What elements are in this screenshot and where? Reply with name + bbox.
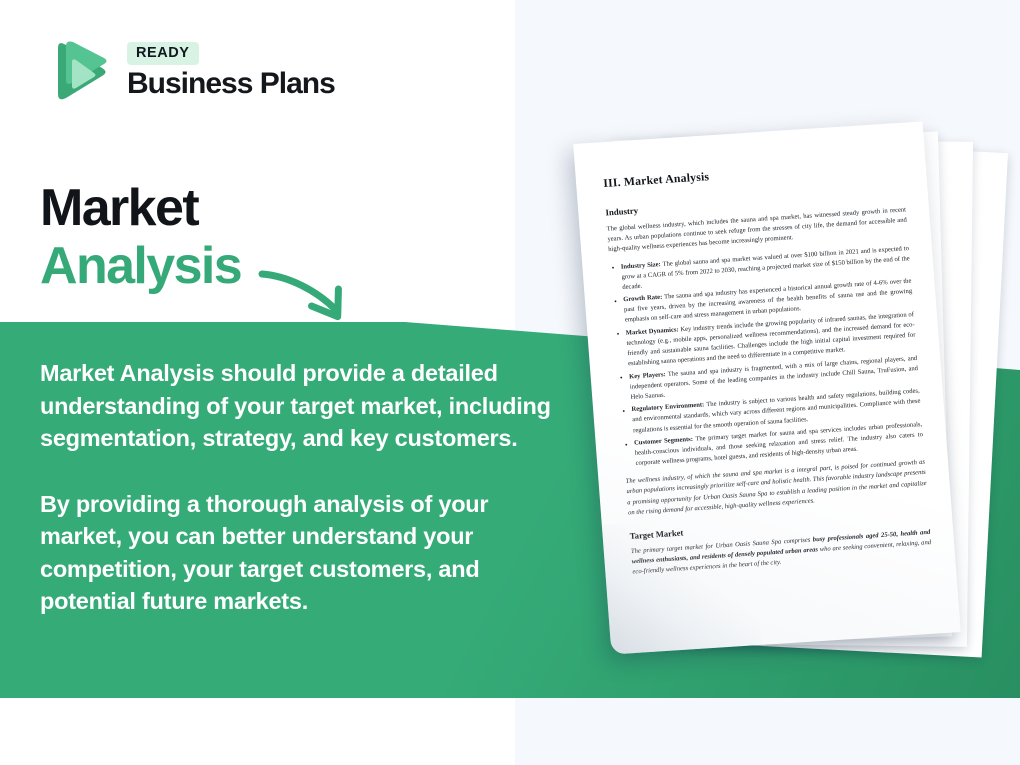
title-line-market: Market (40, 180, 241, 238)
page-title: Market Analysis (40, 180, 241, 295)
brand-text: READY Business Plans (127, 42, 335, 99)
document-title: III. Market Analysis (603, 158, 903, 190)
panel-text-block: Market Analysis should provide a detaile… (40, 322, 560, 618)
panel-paragraph-1: Market Analysis should provide a detaile… (40, 357, 560, 455)
panel-paragraph-2: By providing a thorough analysis of your… (40, 488, 560, 618)
front-page-content: III. Market Analysis Industry The global… (573, 121, 961, 654)
play-triangle-logo-icon (42, 36, 110, 106)
bullet-label: Key Players: (629, 371, 666, 380)
curved-arrow-down-right-icon (258, 266, 368, 328)
title-line-analysis: Analysis (40, 238, 241, 296)
front-document-page: III. Market Analysis Industry The global… (573, 121, 961, 654)
brand-logo: READY Business Plans (42, 36, 335, 106)
bullet-label: Industry Size: (621, 261, 661, 271)
bullet-label: Market Dynamics: (626, 326, 679, 337)
brand-name: Business Plans (127, 68, 335, 100)
ready-badge: READY (127, 42, 199, 65)
document-bullet-list: Industry Size: The global sauna and spa … (609, 243, 924, 470)
bullet-label: Growth Rate: (623, 294, 663, 304)
document-stack: growth ominent. n 2021 and rket size wth… (510, 110, 1020, 680)
bullet-label: Customer Segments: (634, 436, 693, 447)
